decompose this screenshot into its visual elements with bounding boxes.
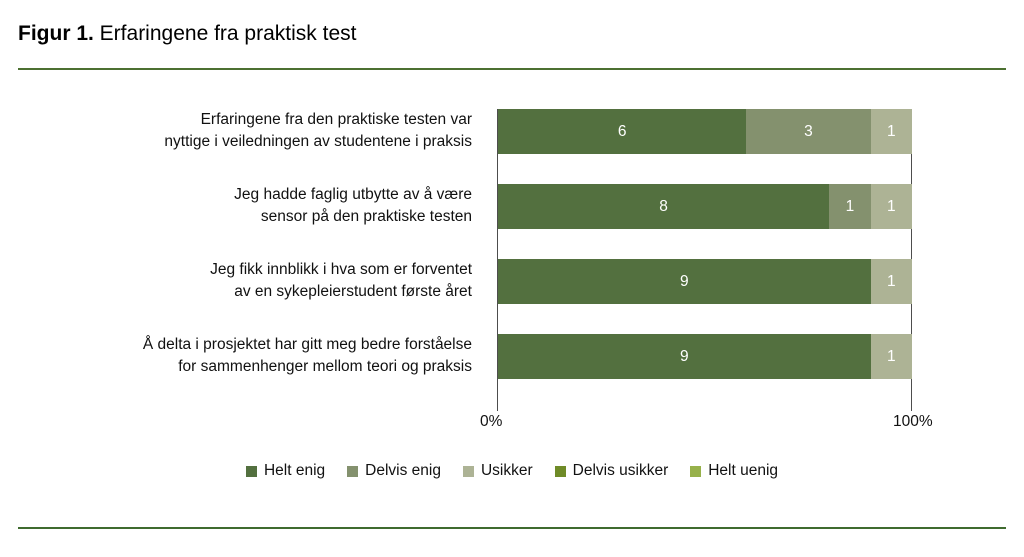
legend-label: Helt enig xyxy=(264,462,325,480)
figure-container: Figur 1. Erfaringene fra praktisk test E… xyxy=(0,0,1024,557)
bar-row: Erfaringene fra den praktiske testen var… xyxy=(0,109,1024,184)
bar-row-label-line: Jeg fikk innblikk i hva som er forventet xyxy=(52,259,472,281)
figure-title-prefix: Figur 1. xyxy=(18,22,94,45)
bar-row: Jeg fikk innblikk i hva som er forventet… xyxy=(0,259,1024,334)
bar-segment: 6 xyxy=(498,109,746,154)
legend-label: Delvis usikker xyxy=(573,462,669,480)
chart-plot-area: Erfaringene fra den praktiske testen var… xyxy=(0,95,1024,445)
legend-item[interactable]: Helt enig xyxy=(246,462,325,480)
axis-tick-min: 0% xyxy=(480,413,502,431)
stacked-bar: 811 xyxy=(498,184,912,229)
legend-item[interactable]: Usikker xyxy=(463,462,533,480)
legend-swatch-icon xyxy=(463,466,474,477)
bar-row-label-line: nyttige i veiledningen av studentene i p… xyxy=(52,131,472,153)
legend-swatch-icon xyxy=(246,466,257,477)
figure-title-text: Erfaringene fra praktisk test xyxy=(94,22,357,45)
stacked-bar: 91 xyxy=(498,334,912,379)
bar-row-label-line: Å delta i prosjektet har gitt meg bedre … xyxy=(52,334,472,356)
bar-row-label-line: Erfaringene fra den praktiske testen var xyxy=(52,109,472,131)
bar-row-label: Jeg hadde faglig utbytte av å væresensor… xyxy=(52,184,472,228)
bar-row: Å delta i prosjektet har gitt meg bedre … xyxy=(0,334,1024,409)
legend-item[interactable]: Helt uenig xyxy=(690,462,778,480)
legend-label: Delvis enig xyxy=(365,462,441,480)
bar-segment: 1 xyxy=(871,109,912,154)
stacked-bar: 91 xyxy=(498,259,912,304)
bar-row: Jeg hadde faglig utbytte av å væresensor… xyxy=(0,184,1024,259)
bar-rows: Erfaringene fra den praktiske testen var… xyxy=(0,109,1024,409)
legend-label: Usikker xyxy=(481,462,533,480)
bar-segment: 1 xyxy=(871,259,912,304)
bar-row-label-line: av en sykepleierstudent første året xyxy=(52,281,472,303)
bar-segment: 1 xyxy=(871,184,912,229)
stacked-bar: 631 xyxy=(498,109,912,154)
footer-divider xyxy=(18,527,1006,529)
axis-tick-labels: 0% 100% xyxy=(0,413,1024,439)
bar-segment: 1 xyxy=(871,334,912,379)
bar-row-label: Å delta i prosjektet har gitt meg bedre … xyxy=(52,334,472,378)
legend-swatch-icon xyxy=(690,466,701,477)
title-divider xyxy=(18,68,1006,70)
bar-segment: 9 xyxy=(498,334,871,379)
bar-segment: 3 xyxy=(746,109,870,154)
bar-segment: 9 xyxy=(498,259,871,304)
bar-row-label-line: for sammenhenger mellom teori og praksis xyxy=(52,356,472,378)
legend-item[interactable]: Delvis usikker xyxy=(555,462,669,480)
bar-row-label: Jeg fikk innblikk i hva som er forventet… xyxy=(52,259,472,303)
bar-row-label: Erfaringene fra den praktiske testen var… xyxy=(52,109,472,153)
legend-swatch-icon xyxy=(555,466,566,477)
figure-title: Figur 1. Erfaringene fra praktisk test xyxy=(18,20,356,48)
bar-row-label-line: Jeg hadde faglig utbytte av å være xyxy=(52,184,472,206)
axis-tick-max: 100% xyxy=(893,413,933,431)
chart-legend: Helt enigDelvis enigUsikkerDelvis usikke… xyxy=(0,462,1024,480)
legend-label: Helt uenig xyxy=(708,462,778,480)
legend-item[interactable]: Delvis enig xyxy=(347,462,441,480)
bar-row-label-line: sensor på den praktiske testen xyxy=(52,206,472,228)
legend-swatch-icon xyxy=(347,466,358,477)
bar-segment: 1 xyxy=(829,184,870,229)
bar-segment: 8 xyxy=(498,184,829,229)
